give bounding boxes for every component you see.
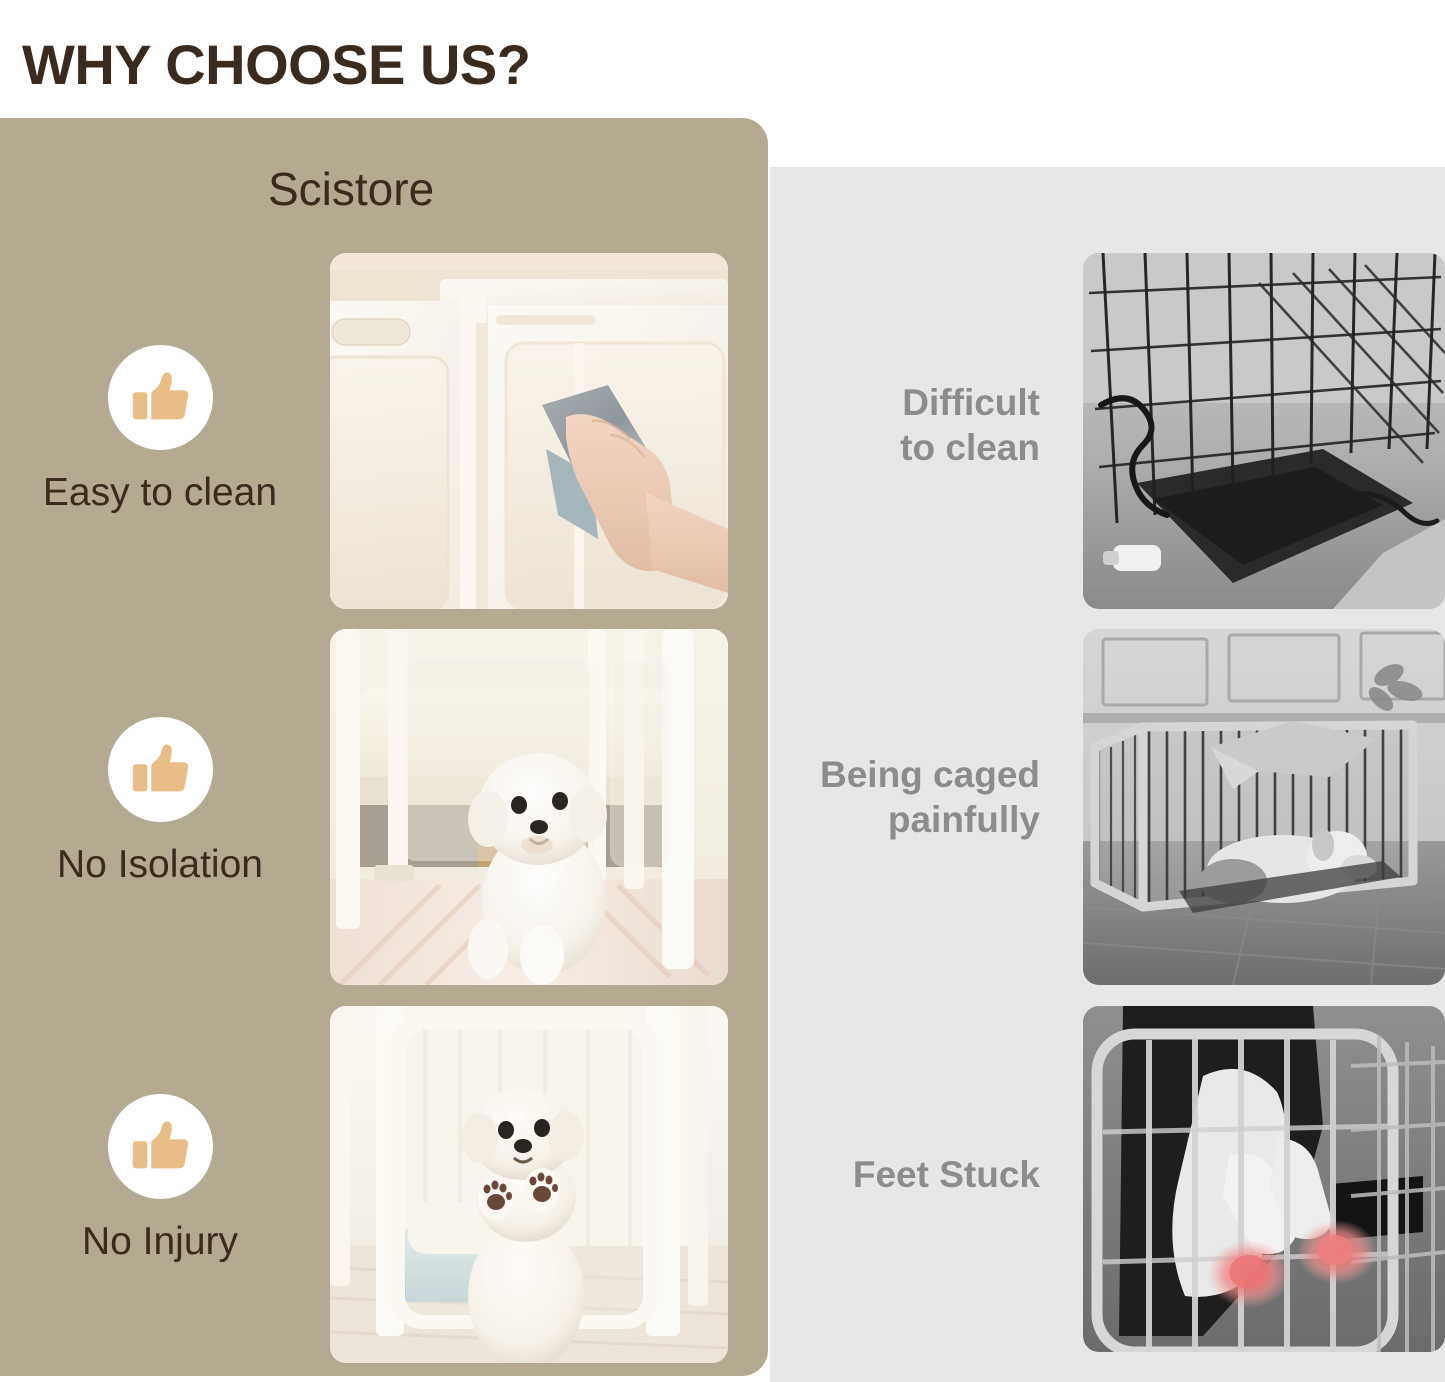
con-label-difficult-to-clean: Difficult to clean (790, 380, 1040, 470)
photo-no-isolation (330, 629, 728, 985)
photo-feet-stuck (1083, 1006, 1445, 1352)
feature-label: Easy to clean (0, 472, 320, 515)
con-label-line: Feet Stuck (790, 1152, 1040, 1197)
photo-caged (1083, 629, 1445, 985)
thumbs-up-icon (108, 717, 213, 822)
feature-label: No Injury (0, 1221, 320, 1264)
con-label-line: Difficult (790, 380, 1040, 425)
page-title: WHY CHOOSE US? (22, 32, 530, 97)
feature-easy-to-clean: Easy to clean (0, 345, 320, 515)
con-label-line: painfully (790, 797, 1040, 842)
thumbs-up-icon (108, 1094, 213, 1199)
feature-no-injury: No Injury (0, 1094, 320, 1264)
feature-label: No Isolation (0, 844, 320, 887)
photo-difficult-clean (1083, 253, 1445, 609)
thumbs-up-icon (108, 345, 213, 450)
con-label-line: Being caged (790, 752, 1040, 797)
feature-no-isolation: No Isolation (0, 717, 320, 887)
con-label-line: to clean (790, 425, 1040, 470)
con-label-feet-stuck: Feet Stuck (790, 1152, 1040, 1197)
photo-easy-clean (330, 253, 728, 609)
photo-no-injury (330, 1006, 728, 1363)
brand-name: Scistore (268, 162, 434, 216)
con-label-being-caged-painfully: Being caged painfully (790, 752, 1040, 842)
